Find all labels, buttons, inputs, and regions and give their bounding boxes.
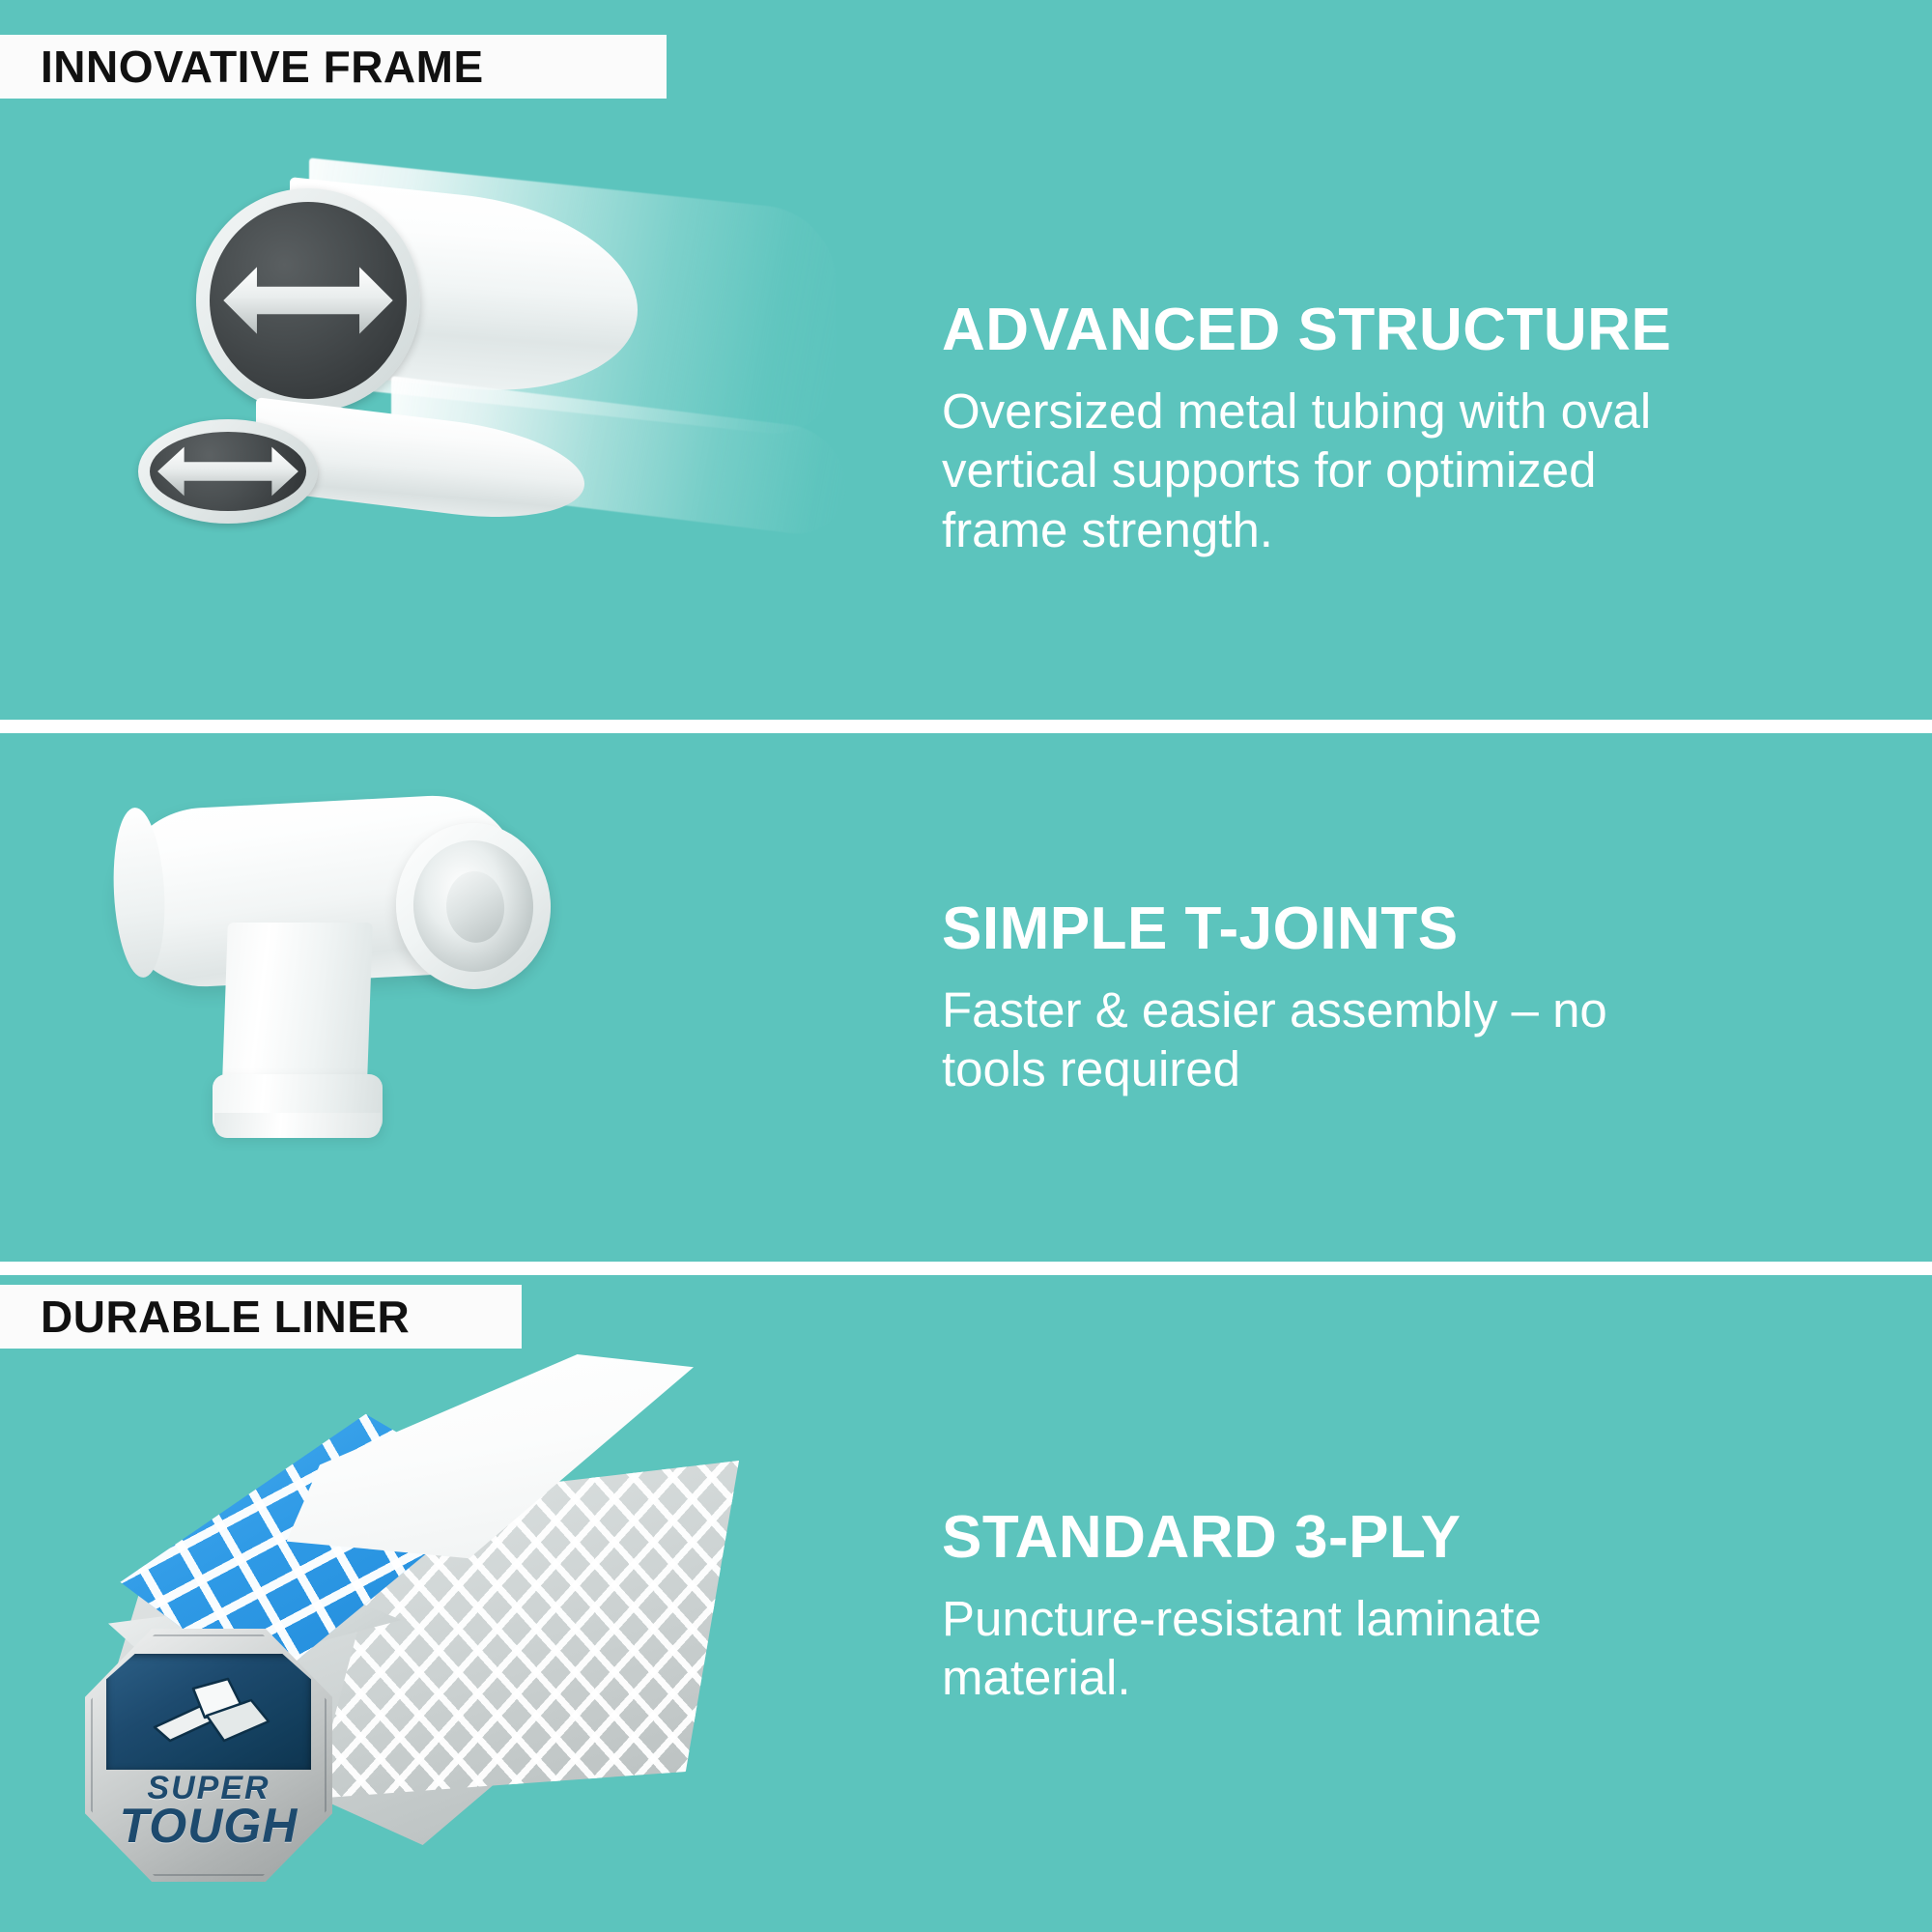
round-tube-face [196,188,420,412]
section-divider-1 [0,720,1932,733]
feature-copy-advanced-structure: ADVANCED STRUCTURE Oversized metal tubin… [942,299,1671,559]
banner-innovative-frame-label: INNOVATIVE FRAME [41,44,484,89]
infographic-page: INNOVATIVE FRAME [0,0,1932,1932]
round-tube-bore [210,202,407,399]
banner-durable-liner-label: DURABLE LINER [41,1294,410,1339]
t-joint-foot-lip [214,1113,381,1138]
t-joint-mouth-bore [444,869,507,945]
feature-heading: SIMPLE T-JOINTS [942,898,1695,959]
feature-heading: STANDARD 3-PLY [942,1507,1560,1568]
layered-sheets-icon [149,1667,276,1760]
t-joint-illustration [106,763,609,1236]
oval-tube-bore [150,432,306,511]
tube-cross-section-illustration [92,145,845,580]
oval-tube-face [138,419,318,524]
badge-blue-panel [106,1654,311,1770]
section-divider-2 [0,1262,1932,1275]
feature-body: Oversized metal tubing with oval vertica… [942,382,1657,559]
double-arrow-icon [210,202,407,399]
double-arrow-icon [150,432,306,511]
banner-innovative-frame: INNOVATIVE FRAME [0,35,667,99]
feature-body: Puncture-resistant laminate material. [942,1589,1560,1707]
feature-heading: ADVANCED STRUCTURE [942,299,1671,360]
badge-text: SUPER TOUGH [85,1774,332,1848]
badge-line-2: TOUGH [85,1804,332,1848]
banner-durable-liner: DURABLE LINER [0,1285,522,1349]
feature-copy-simple-t-joints: SIMPLE T-JOINTS Faster & easier assembly… [942,898,1695,1099]
feature-body: Faster & easier assembly – no tools requ… [942,980,1695,1098]
super-tough-badge: SUPER TOUGH [85,1629,332,1882]
t-joint-mouth-rim [409,837,537,976]
feature-copy-standard-3-ply: STANDARD 3-PLY Puncture-resistant lamina… [942,1507,1560,1708]
